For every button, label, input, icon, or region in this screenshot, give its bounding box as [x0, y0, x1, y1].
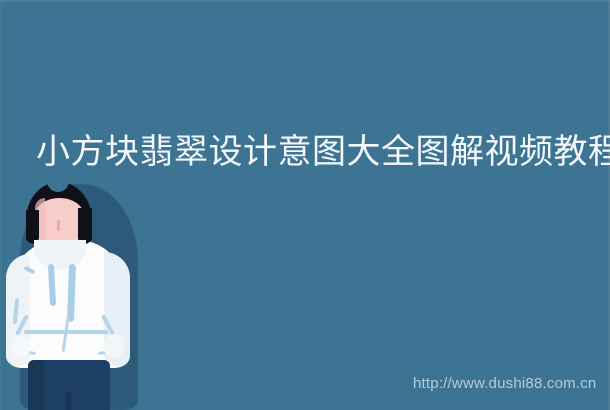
top-edge-divider — [0, 0, 610, 2]
site-watermark-url: http://www.dushi88.com.cn — [413, 375, 596, 393]
hand-left-in-pocket — [12, 336, 30, 358]
hair-left-side — [26, 210, 39, 243]
page-title: 小方块翡翠设计意图大全图解视频教程 — [36, 132, 596, 172]
pants-shadow — [28, 360, 44, 410]
hair-right-side — [78, 208, 92, 244]
banner-canvas: 小方块翡翠设计意图大全图解视频教程 http://www.dushi88.com… — [0, 0, 610, 410]
person-illustration — [0, 178, 150, 410]
hand-right-in-pocket — [104, 334, 124, 358]
pants-leg-gap — [66, 392, 71, 410]
nose — [57, 220, 60, 231]
